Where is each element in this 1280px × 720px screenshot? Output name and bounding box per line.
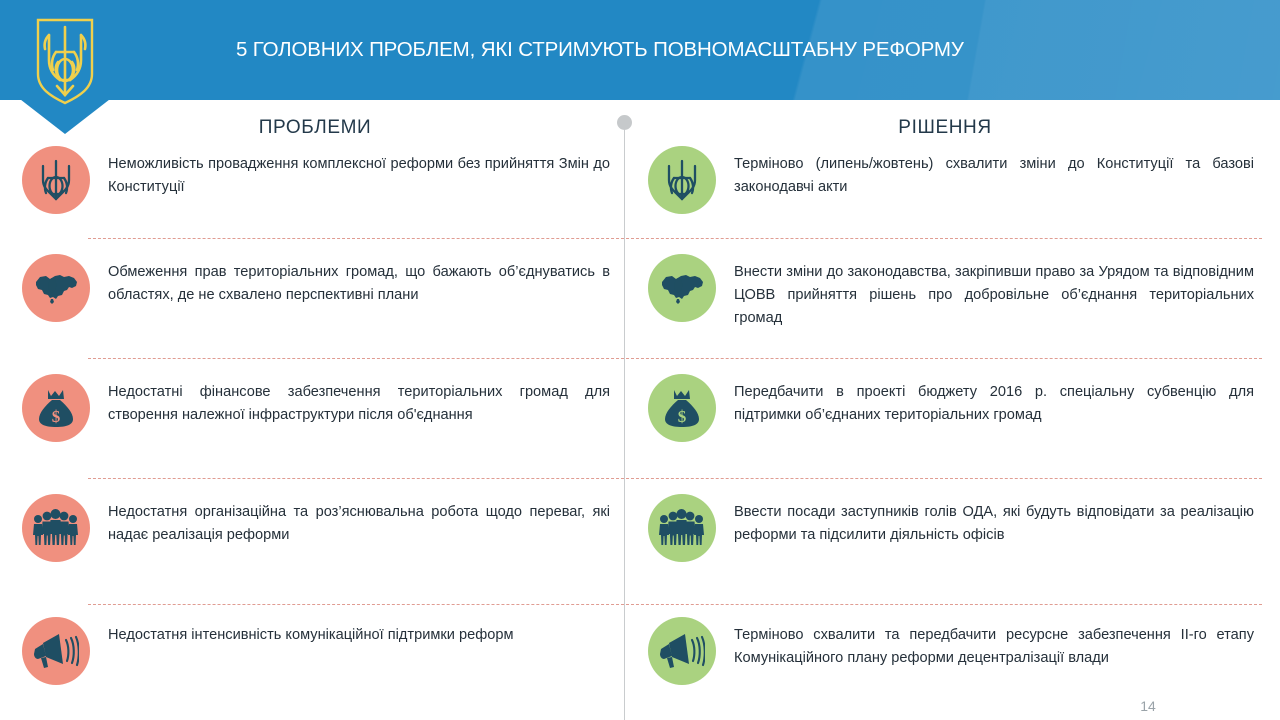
page-title: 5 ГОЛОВНИХ ПРОБЛЕМ, ЯКІ СТРИМУЮТЬ ПОВНОМ… — [236, 0, 1116, 100]
problem-text: Недостатня організаційна та роз’яснюваль… — [90, 492, 622, 547]
row-divider — [88, 478, 624, 479]
solution-cell: Терміново (липень/жовтень) схвалити змін… — [648, 144, 1268, 230]
people-group-icon — [658, 509, 706, 547]
problem-text: Недостатня інтенсивність комунікаційної … — [90, 615, 622, 647]
row-divider — [626, 478, 1262, 479]
problem-text: Обмеження прав територіальних громад, що… — [90, 252, 622, 307]
money-bag-icon-badge: $ — [648, 374, 716, 442]
problem-cell: Обмеження прав територіальних громад, що… — [22, 252, 622, 348]
row-divider — [88, 238, 624, 239]
solution-text: Терміново схвалити та передбачити ресурс… — [716, 615, 1268, 670]
megaphone-icon — [33, 631, 79, 671]
table-row: Недостатня організаційна та роз’яснюваль… — [0, 492, 1280, 588]
money-bag-icon: $ — [36, 386, 76, 430]
ukraine-map-icon-badge — [22, 254, 90, 322]
megaphone-icon-badge — [22, 617, 90, 685]
ukraine-trident-emblem-icon — [16, 0, 114, 134]
solution-text: Терміново (липень/жовтень) схвалити змін… — [716, 144, 1268, 199]
trident-icon-badge — [648, 146, 716, 214]
row-divider — [626, 604, 1262, 605]
table-row: $ Недостатні фінансове забезпечення тери… — [0, 372, 1280, 468]
column-header-solutions: РІШЕННЯ — [760, 112, 1130, 144]
table-row: Неможливість провадження комплексної реф… — [0, 144, 1280, 230]
problem-cell: Недостатня організаційна та роз’яснюваль… — [22, 492, 622, 588]
table-row: Недостатня інтенсивність комунікаційної … — [0, 615, 1280, 711]
row-divider — [88, 358, 624, 359]
problem-cell: $ Недостатні фінансове забезпечення тери… — [22, 372, 622, 468]
people-group-icon-badge — [648, 494, 716, 562]
problem-cell: Неможливість провадження комплексної реф… — [22, 144, 622, 230]
svg-text:$: $ — [678, 407, 687, 426]
problem-text: Недостатні фінансове забезпечення терито… — [90, 372, 622, 427]
megaphone-icon-badge — [648, 617, 716, 685]
svg-text:$: $ — [52, 407, 61, 426]
trident-icon-badge — [22, 146, 90, 214]
ukraine-map-icon-badge — [648, 254, 716, 322]
trident-icon — [36, 158, 76, 202]
money-bag-icon: $ — [662, 386, 702, 430]
trident-icon — [662, 158, 702, 202]
page-number: 14 — [1128, 698, 1168, 714]
solution-text: Ввести посади заступників голів ОДА, які… — [716, 492, 1268, 547]
solution-cell: $ Передбачити в проекті бюджету 2016 р. … — [648, 372, 1268, 468]
people-group-icon — [32, 509, 80, 547]
ukraine-map-icon — [659, 271, 705, 305]
column-header-problems: ПРОБЛЕМИ — [130, 112, 500, 144]
row-divider — [88, 604, 624, 605]
table-row: Обмеження прав територіальних громад, що… — [0, 252, 1280, 348]
solution-text: Внести зміни до законодавства, закріпивш… — [716, 252, 1268, 330]
solution-cell: Внести зміни до законодавства, закріпивш… — [648, 252, 1268, 348]
people-group-icon-badge — [22, 494, 90, 562]
problem-text: Неможливість провадження комплексної реф… — [90, 144, 622, 199]
money-bag-icon-badge: $ — [22, 374, 90, 442]
solution-cell: Ввести посади заступників голів ОДА, які… — [648, 492, 1268, 588]
solution-cell: Терміново схвалити та передбачити ресурс… — [648, 615, 1268, 711]
row-divider — [626, 238, 1262, 239]
megaphone-icon — [659, 631, 705, 671]
row-divider — [626, 358, 1262, 359]
ukraine-map-icon — [33, 271, 79, 305]
problem-cell: Недостатня інтенсивність комунікаційної … — [22, 615, 622, 711]
center-divider-dot — [617, 115, 632, 130]
solution-text: Передбачити в проекті бюджету 2016 р. сп… — [716, 372, 1268, 427]
